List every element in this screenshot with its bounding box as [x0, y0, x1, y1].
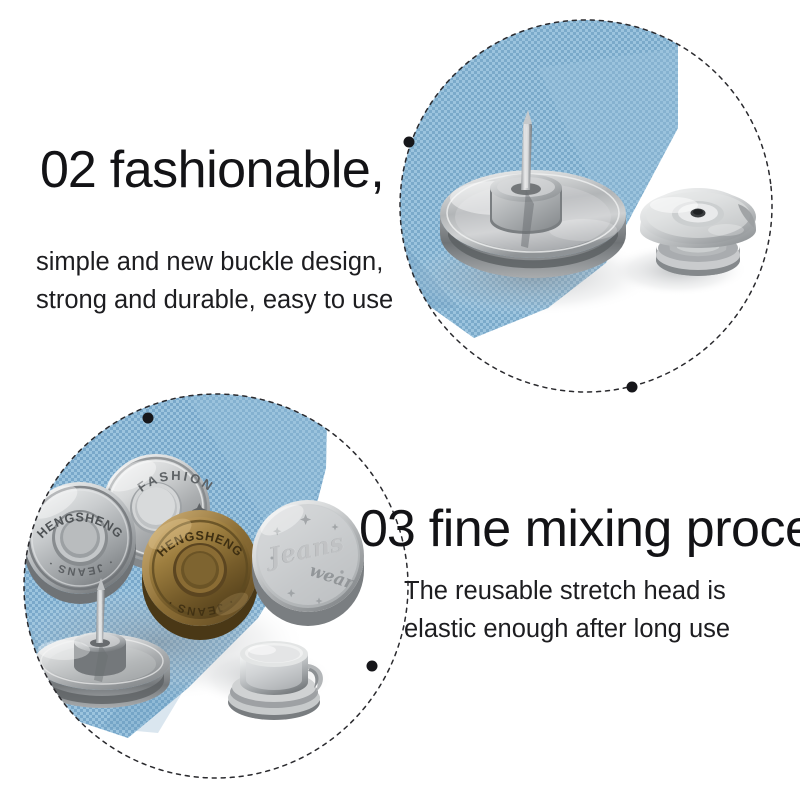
- section-02-heading: 02 fashionable,: [40, 144, 384, 196]
- accent-dot-bottom-right: [367, 661, 378, 672]
- accent-dot-bottom-top: [143, 413, 154, 424]
- section-03-body-line-2: elastic enough after long use: [404, 610, 730, 648]
- section-02-body-line-1: simple and new buckle design,: [36, 243, 393, 281]
- section-03-body-line-1: The reusable stretch head is: [404, 572, 730, 610]
- section-02-number: 02: [40, 141, 96, 199]
- section-02-title: fashionable,: [110, 141, 384, 199]
- jeans-wear-button: Jeans Jeans wear: [252, 498, 364, 626]
- button-cap: [640, 188, 756, 276]
- hengsheng-jeans-button-bronze: HENGSHENG · JEANS ·: [142, 510, 258, 640]
- accent-dot-bottom-right: [627, 382, 638, 393]
- section-03-photo: FASHION JEANS: [8, 388, 428, 800]
- section-03-body: The reusable stretch head is elastic eno…: [404, 572, 730, 648]
- section-03-heading: 03 fine mixing process: [359, 503, 800, 555]
- section-02-photo: [378, 8, 796, 418]
- section-02-body: simple and new buckle design, strong and…: [36, 243, 393, 319]
- section-03-number: 03: [359, 500, 415, 558]
- infographic-page: 02 fashionable, simple and new buckle de…: [0, 0, 800, 800]
- section-03-title: fine mixing process: [429, 500, 800, 558]
- accent-dot-top-left: [404, 137, 415, 148]
- section-02-body-line-2: strong and durable, easy to use: [36, 281, 393, 319]
